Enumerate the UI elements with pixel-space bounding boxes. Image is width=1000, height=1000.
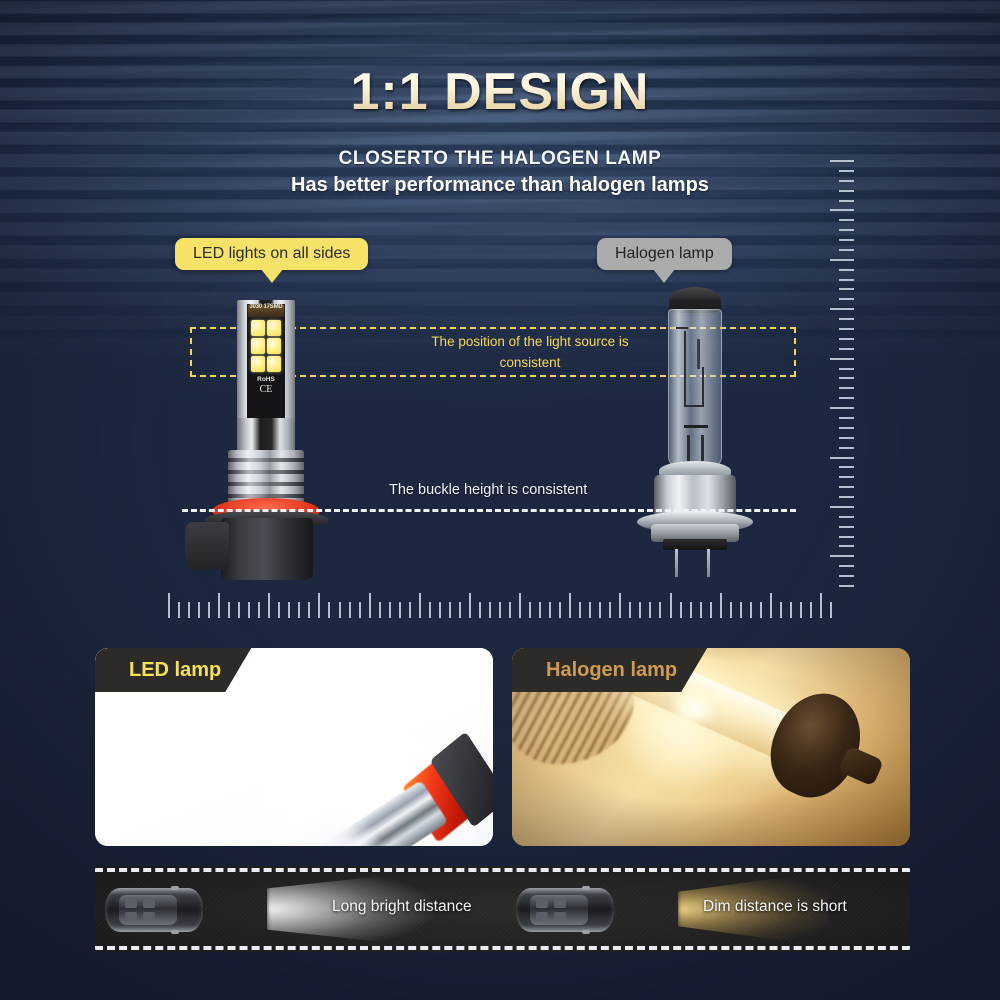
ruler-tick <box>198 602 200 618</box>
ruler-tick <box>379 602 381 618</box>
led-bulb-illustration: 3030 17SMD RoHS CE <box>185 300 355 580</box>
halogen-filament-lead <box>687 435 690 461</box>
ruler-tick <box>629 602 631 618</box>
ruler-tick <box>178 602 180 618</box>
ruler-tick <box>790 602 792 618</box>
ruler-tick <box>839 526 854 528</box>
ruler-tick <box>839 417 854 419</box>
ruler-tick <box>839 229 854 231</box>
led-rohs-mark: RoHS <box>248 376 284 383</box>
ruler-tick <box>839 447 854 449</box>
ruler-tick <box>499 602 501 618</box>
ruler-tick <box>168 593 170 618</box>
ruler-tick <box>839 387 854 389</box>
led-panel-tag: LED lamp <box>95 648 251 692</box>
led-road-caption: Long bright distance <box>332 898 472 916</box>
ruler-tick <box>839 239 854 241</box>
ruler-tick <box>659 602 661 618</box>
ruler-tick <box>238 602 240 618</box>
halogen-filament-lead <box>701 435 704 461</box>
halogen-filament <box>684 425 708 428</box>
ruler-tick <box>760 602 762 618</box>
ruler-tick <box>780 602 782 618</box>
ruler-tick <box>839 190 854 192</box>
led-heatsink <box>228 450 304 504</box>
led-ce-mark: CE <box>248 384 284 395</box>
ruler-tick <box>599 602 601 618</box>
ruler-tick <box>188 602 190 618</box>
road-lane-marking-bottom <box>95 946 910 950</box>
led-chip <box>267 356 281 372</box>
ruler-tick <box>839 545 854 547</box>
halogen-glass-envelope <box>668 309 722 467</box>
halogen-contact-pin <box>707 549 710 577</box>
ruler-tick <box>479 602 481 618</box>
ruler-tick <box>720 593 722 618</box>
ruler-tick <box>839 338 854 340</box>
ruler-tick <box>339 602 341 618</box>
ruler-tick <box>839 536 854 538</box>
ruler-tick <box>839 585 854 587</box>
ruler-tick <box>839 575 854 577</box>
led-connector-tab <box>185 522 229 570</box>
callout-led-lights: LED lights on all sides <box>175 238 368 270</box>
ruler-tick <box>839 328 854 330</box>
ruler-tick <box>419 593 421 618</box>
ruler-tick <box>839 466 854 468</box>
ruler-tick <box>839 377 854 379</box>
alignment-note: The position of the light source is cons… <box>400 332 660 374</box>
ruler-tick <box>449 602 451 618</box>
ruler-tick <box>700 602 702 618</box>
buckle-height-reference-line <box>182 509 796 512</box>
ruler-tick <box>839 219 854 221</box>
halogen-panel-tag-label: Halogen lamp <box>546 659 677 682</box>
ruler-tick <box>268 593 270 618</box>
ruler-tick <box>349 602 351 618</box>
led-panel-tag-label: LED lamp <box>129 659 221 682</box>
ruler-tick <box>429 602 431 618</box>
ruler-tick <box>740 602 742 618</box>
ruler-tick <box>258 602 260 618</box>
ruler-tick <box>318 593 320 618</box>
car-seat <box>125 899 137 908</box>
halogen-filament <box>702 367 704 407</box>
ruler-tick <box>710 602 712 618</box>
ruler-tick <box>690 602 692 618</box>
ruler-tick <box>439 602 441 618</box>
ruler-tick <box>399 602 401 618</box>
ruler-tick <box>639 602 641 618</box>
ruler-tick <box>839 397 854 399</box>
ruler-tick <box>839 200 854 202</box>
ruler-tick <box>830 308 854 310</box>
ruler-tick <box>839 279 854 281</box>
ruler-tick <box>298 602 300 618</box>
led-chip <box>251 338 265 354</box>
callout-halogen-lamp: Halogen lamp <box>597 238 732 270</box>
led-chip-code: 3030 17SMD <box>248 304 284 311</box>
ruler-tick <box>839 249 854 251</box>
ruler-tick <box>839 565 854 567</box>
ruler-tick <box>839 437 854 439</box>
car-mirror <box>582 930 590 934</box>
car-halogen <box>516 888 614 932</box>
ruler-tick <box>519 593 521 618</box>
ruler-tick <box>839 348 854 350</box>
ruler-tick <box>830 555 854 557</box>
road-comparison-strip: Long bright distance Dim distance is sho… <box>95 866 910 952</box>
ruler-tick <box>288 602 290 618</box>
horizontal-ruler <box>168 592 830 618</box>
halogen-filament-shield <box>697 339 700 369</box>
car-seat <box>536 899 548 908</box>
ruler-tick <box>509 602 511 618</box>
ruler-tick <box>839 288 854 290</box>
car-mirror <box>582 886 590 890</box>
led-chip <box>251 320 265 336</box>
ruler-tick <box>830 457 854 459</box>
ruler-tick <box>278 602 280 618</box>
ruler-tick <box>529 602 531 618</box>
ruler-tick <box>579 602 581 618</box>
ruler-tick <box>839 170 854 172</box>
ruler-tick <box>539 602 541 618</box>
ruler-tick <box>680 602 682 618</box>
ruler-tick <box>820 593 822 618</box>
led-chip-array <box>251 320 281 372</box>
buckle-height-note: The buckle height is consistent <box>389 482 587 498</box>
ruler-tick <box>730 602 732 618</box>
car-mirror <box>171 930 179 934</box>
callout-led-label: LED lights on all sides <box>193 245 350 262</box>
halogen-filament <box>676 327 688 329</box>
ruler-tick <box>830 602 832 618</box>
ruler-tick <box>549 602 551 618</box>
halogen-road-caption: Dim distance is short <box>703 898 847 916</box>
halogen-filament <box>684 331 686 405</box>
ruler-tick <box>218 593 220 618</box>
ruler-tick <box>228 602 230 618</box>
ruler-tick <box>619 593 621 618</box>
ruler-tick <box>830 407 854 409</box>
halogen-base-ring <box>663 539 727 550</box>
ruler-tick <box>670 593 672 618</box>
halogen-comparison-panel: Halogen lamp <box>512 648 910 846</box>
car-seat <box>143 912 155 921</box>
ruler-tick <box>800 602 802 618</box>
halogen-contact-pin <box>675 549 678 577</box>
ruler-tick <box>750 602 752 618</box>
ruler-tick <box>308 602 310 618</box>
ruler-tick <box>489 602 491 618</box>
vertical-ruler <box>820 160 854 585</box>
halogen-filament <box>684 405 704 407</box>
ruler-tick <box>839 180 854 182</box>
ruler-tick <box>839 496 854 498</box>
road-lane-marking-top <box>95 868 910 872</box>
ruler-tick <box>409 602 411 618</box>
ruler-tick <box>839 516 854 518</box>
page-title: 1:1 DESIGN <box>0 62 1000 122</box>
led-chip <box>251 356 265 372</box>
ruler-tick <box>839 298 854 300</box>
led-chip <box>267 338 281 354</box>
ruler-tick <box>359 602 361 618</box>
ruler-tick <box>839 269 854 271</box>
car-seat <box>554 912 566 921</box>
car-seat <box>554 899 566 908</box>
led-chip <box>267 320 281 336</box>
car-led <box>105 888 203 932</box>
car-seat <box>143 899 155 908</box>
ruler-tick <box>839 318 854 320</box>
car-seat <box>536 912 548 921</box>
halogen-panel-tag: Halogen lamp <box>512 648 707 692</box>
ruler-tick <box>770 593 772 618</box>
ruler-tick <box>208 602 210 618</box>
ruler-tick <box>609 602 611 618</box>
ruler-tick <box>389 602 391 618</box>
ruler-tick <box>830 358 854 360</box>
ruler-tick <box>839 486 854 488</box>
led-connector-base <box>221 518 313 580</box>
infographic-root: 1:1 DESIGN CLOSERTO THE HALOGEN LAMP Has… <box>0 0 1000 1000</box>
ruler-tick <box>469 593 471 618</box>
car-mirror <box>171 886 179 890</box>
ruler-tick <box>830 160 854 162</box>
halogen-bulb-illustration <box>635 287 755 577</box>
led-photo-bulb <box>262 734 493 846</box>
ruler-tick <box>830 506 854 508</box>
ruler-tick <box>830 209 854 211</box>
ruler-tick <box>248 602 250 618</box>
ruler-tick <box>649 602 651 618</box>
led-neck <box>237 418 295 452</box>
car-seat <box>125 912 137 921</box>
ruler-tick <box>839 427 854 429</box>
ruler-tick <box>830 259 854 261</box>
led-comparison-panel: LED lamp <box>95 648 493 846</box>
callout-halogen-label: Halogen lamp <box>615 245 714 262</box>
ruler-tick <box>589 602 591 618</box>
ruler-tick <box>569 593 571 618</box>
ruler-tick <box>328 602 330 618</box>
ruler-tick <box>369 593 371 618</box>
ruler-tick <box>839 476 854 478</box>
ruler-tick <box>810 602 812 618</box>
ruler-tick <box>839 368 854 370</box>
ruler-tick <box>459 602 461 618</box>
ruler-tick <box>559 602 561 618</box>
